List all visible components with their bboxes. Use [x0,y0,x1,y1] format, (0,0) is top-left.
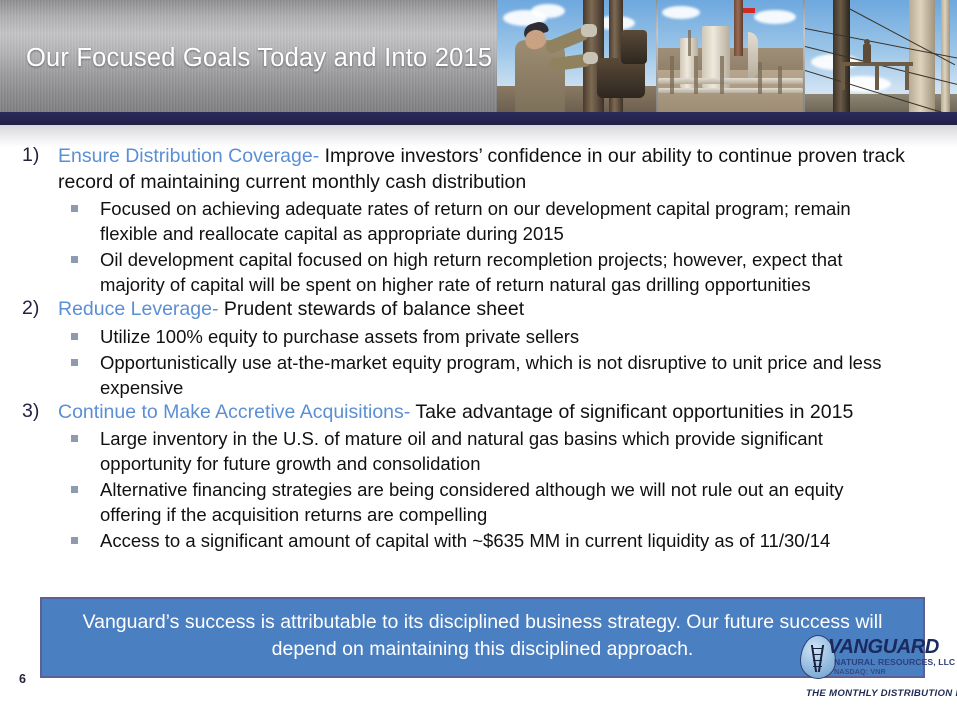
cloud-shape [662,6,700,19]
goal-bullet: Opportunistically use at-the-market equi… [0,350,957,400]
support-shape [670,56,674,94]
logo-tagline: THE MONTHLY DISTRIBUTION MLP™ [806,688,957,699]
goal-bullet-text: Alternative financing strategies are bei… [100,477,957,527]
cloud-shape [754,10,796,24]
square-bullet-icon [71,333,78,340]
goal-text: Reduce Leverage- Prudent stewards of bal… [58,297,957,323]
goal-item: 2) Reduce Leverage- Prudent stewards of … [0,297,957,323]
logo-wordmark: VANGUARD [828,636,939,659]
summary-callout-box: Vanguard’s success is attributable to it… [40,597,925,678]
rig-worker-head-shape [864,39,870,45]
platform-post-shape [875,62,879,90]
logo-subtitle: NATURAL RESOURCES, LLC [834,657,955,667]
exhaust-stack-shape [734,0,743,56]
header-photo-strip [497,0,957,112]
goal-bullet-text: Opportunistically use at-the-market equi… [100,350,957,400]
square-bullet-icon [71,537,78,544]
goal-bullet-text: Focused on achieving adequate rates of r… [100,196,957,246]
page-number: 6 [19,672,26,686]
derrick-icon [813,645,822,672]
platform-post-shape [905,62,909,90]
goal-bullet: Oil development capital focused on high … [0,247,957,297]
tong-tool-shape [597,58,645,98]
goal-lead: Continue to Make Accretive Acquisitions- [58,401,410,423]
goal-item: 3) Continue to Make Accretive Acquisitio… [0,400,957,426]
rig-worker-shape [863,44,871,63]
goal-bullet: Utilize 100% equity to purchase assets f… [0,324,957,349]
support-shape [720,56,724,94]
support-shape [778,66,782,94]
support-shape [694,56,698,94]
goal-text: Ensure Distribution Coverage- Improve in… [58,144,957,195]
platform-post-shape [841,62,845,90]
goal-bullet: Access to a significant amount of capita… [0,528,957,553]
vanguard-logo: VANGUARD NATURAL RESOURCES, LLC NASDAQ: … [800,634,930,679]
derrick-rung [813,666,822,667]
support-shape [688,30,691,56]
header-divider-bar [0,112,957,125]
goal-lead: Ensure Distribution Coverage- [58,145,319,167]
glove-shape [581,24,597,37]
derrick-rung [813,660,822,661]
goal-bullet-text: Access to a significant amount of capita… [100,528,957,553]
goal-item: 1) Ensure Distribution Coverage- Improve… [0,144,957,195]
goal-number: 1) [22,144,39,167]
support-shape [758,62,762,94]
goal-bullet: Large inventory in the U.S. of mature oi… [0,426,957,476]
flag-shape [743,8,755,13]
goal-rest: Take advantage of significant opportunit… [410,401,853,423]
slide-title: Our Focused Goals Today and Into 2015 [26,44,492,73]
slide-header: Our Focused Goals Today and Into 2015 [0,0,957,112]
square-bullet-icon [71,435,78,442]
square-bullet-icon [71,205,78,212]
goals-list: 1) Ensure Distribution Coverage- Improve… [0,144,957,553]
square-bullet-icon [71,486,78,493]
goal-bullet: Focused on achieving adequate rates of r… [0,196,957,246]
drilling-rig-photo [805,0,957,112]
oil-worker-photo [497,0,656,112]
goal-bullet-text: Utilize 100% equity to purchase assets f… [100,324,957,349]
cloud-shape [531,4,565,18]
goal-bullet-text: Oil development capital focused on high … [100,247,957,297]
goal-bullet: Alternative financing strategies are bei… [0,477,957,527]
derrick-rung [813,654,822,655]
goal-bullet-text: Large inventory in the U.S. of mature oi… [100,426,957,476]
logo-ticker: NASDAQ: VNR [834,667,886,676]
processing-plant-photo [658,0,803,112]
tong-tool-shape [621,30,647,64]
pipe-shape [748,32,758,80]
goal-text: Continue to Make Accretive Acquisitions-… [58,400,957,426]
square-bullet-icon [71,256,78,263]
goal-number: 3) [22,400,39,423]
square-bullet-icon [71,359,78,366]
glove-shape [583,52,598,64]
goal-number: 2) [22,297,39,320]
derrick-rung [813,648,822,649]
summary-callout-text: Vanguard’s success is attributable to it… [56,609,909,663]
goal-rest: Prudent stewards of balance sheet [218,298,524,320]
goal-lead: Reduce Leverage- [58,298,218,320]
derrick-tower-shape [909,0,935,112]
